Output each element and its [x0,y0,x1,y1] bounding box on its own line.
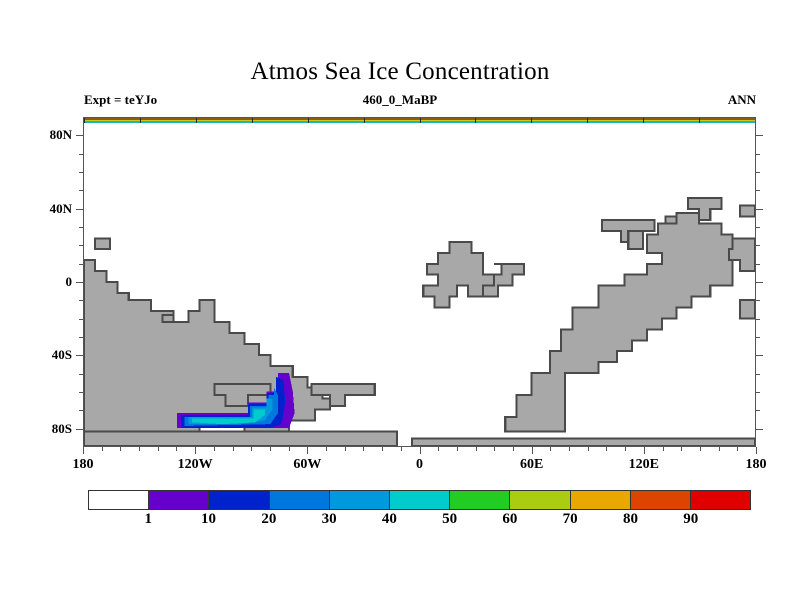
colorbar-strip [88,490,751,510]
x-axis-label: 120W [178,457,213,473]
colorbar-cell [330,491,390,509]
lon-tick-bottom [625,447,626,451]
lat-tick-left [79,190,83,191]
lon-tick-bottom [756,447,757,454]
colorbar-cell [390,491,450,509]
landmass [666,216,677,223]
lat-tick-left [76,209,83,210]
lat-tick-left [79,245,83,246]
lat-tick-right [756,282,763,283]
top-strip-tick [364,118,365,123]
lat-tick-right [756,337,760,338]
lon-tick-bottom [345,447,346,451]
lon-tick-bottom [681,447,682,451]
x-axis-label: 0 [416,457,423,473]
period-label: ANN [728,92,756,108]
lat-tick-right [756,300,760,301]
colorbar-tick-label: 40 [382,511,397,528]
frame-top-color-strip [84,118,755,123]
lat-tick-left [79,154,83,155]
lon-tick-bottom [251,447,252,451]
landmass [628,231,643,249]
top-strip-tick [755,118,756,123]
lon-tick-bottom [588,447,589,451]
top-strip-tick [587,118,588,123]
lat-tick-right [756,245,760,246]
lat-tick-left [79,172,83,173]
lon-tick-bottom [289,447,290,451]
lat-tick-right [756,355,763,356]
lat-tick-left [76,429,83,430]
top-strip-tick [475,118,476,123]
lon-tick-bottom [700,447,701,451]
lon-tick-bottom [438,447,439,451]
y-axis-label: 0 [66,274,73,290]
colorbar-cell [149,491,209,509]
x-axis-label: 180 [746,457,767,473]
lat-tick-right [756,135,763,136]
y-axis-label: 40S [52,347,72,363]
lon-tick-bottom [326,447,327,451]
lat-tick-right [756,374,760,375]
lon-tick-bottom [139,447,140,451]
top-strip-tick [699,118,700,123]
top-strip-tick [643,118,644,123]
lat-tick-right [756,264,760,265]
lat-tick-left [79,410,83,411]
colorbar-cell [691,491,750,509]
figure-root: Atmos Sea Ice Concentration 460_0_MaBP E… [0,0,800,600]
lat-tick-left [79,227,83,228]
lat-tick-left [79,319,83,320]
lat-tick-left [79,264,83,265]
lat-tick-right [756,429,763,430]
colorbar-tick-label: 60 [502,511,517,528]
lat-tick-right [756,190,760,191]
lon-tick-bottom [214,447,215,451]
plot-frame [83,117,756,447]
lon-tick-bottom [195,447,196,454]
lat-tick-right [756,319,760,320]
top-strip-tick [420,118,421,123]
colorbar-tick-label: 90 [683,511,698,528]
top-strip-tick [140,118,141,123]
lon-tick-bottom [420,447,421,454]
top-strip-tick [84,118,85,123]
landmass [740,205,755,216]
landmass [505,213,732,432]
lon-tick-bottom [569,447,570,451]
top-strip-tick [196,118,197,123]
lon-tick-bottom [176,447,177,451]
lon-tick-bottom [457,447,458,451]
antarctic-coast [84,431,397,446]
lat-tick-left [76,355,83,356]
lat-tick-right [756,392,760,393]
lat-tick-right [756,227,760,228]
map-plot: 80N40N040S80S180120W60W060E120E180 [83,117,756,447]
lon-tick-bottom [102,447,103,451]
landmass [95,238,110,249]
x-axis-label: 60E [520,457,543,473]
x-axis-label: 60W [293,457,321,473]
colorbar-tick-label: 80 [623,511,638,528]
colorbar-cell [510,491,570,509]
colorbar-tick-label: 1 [145,511,153,528]
lon-tick-bottom [120,447,121,451]
landmass [162,315,173,322]
land-layer [84,198,755,446]
colorbar-tick-label: 20 [261,511,276,528]
landmass [423,242,494,308]
colorbar-tick-label: 70 [563,511,578,528]
lon-tick-bottom [307,447,308,454]
lat-tick-right [756,154,760,155]
lon-tick-bottom [719,447,720,451]
lon-tick-bottom [606,447,607,451]
x-axis-label: 180 [73,457,94,473]
lat-tick-right [756,172,760,173]
top-strip-tick [308,118,309,123]
lon-tick-bottom [737,447,738,451]
colorbar-cell [270,491,330,509]
lon-tick-bottom [233,447,234,451]
lon-tick-bottom [663,447,664,451]
page-title: Atmos Sea Ice Concentration [0,58,800,86]
lon-tick-bottom [158,447,159,451]
lon-tick-bottom [382,447,383,451]
lat-tick-left [76,282,83,283]
lon-tick-bottom [513,447,514,451]
top-strip-tick [531,118,532,123]
y-axis-label: 80N [50,127,72,143]
lat-tick-right [756,209,763,210]
lon-tick-bottom [476,447,477,451]
antarctic-coast [412,439,755,446]
lon-tick-bottom [494,447,495,451]
lat-tick-left [79,300,83,301]
lon-tick-bottom [550,447,551,451]
y-axis-label: 80S [52,421,72,437]
colorbar-cell [209,491,269,509]
colorbar-cell [631,491,691,509]
y-axis-label: 40N [50,201,72,217]
lat-tick-left [79,337,83,338]
lon-tick-bottom [644,447,645,454]
lat-tick-left [79,392,83,393]
experiment-label: Expt = teYJo [84,92,157,108]
colorbar-cell [571,491,631,509]
colorbar-tick-label: 10 [201,511,216,528]
landmass [740,300,755,318]
map-canvas [84,118,755,446]
colorbar-tick-label: 50 [442,511,457,528]
x-axis-label: 120E [629,457,659,473]
top-strip-tick [252,118,253,123]
lon-tick-bottom [270,447,271,451]
colorbar-cell [89,491,149,509]
lon-tick-bottom [532,447,533,454]
colorbar: 1102030405060708090 [88,490,751,510]
lon-tick-bottom [363,447,364,451]
lon-tick-bottom [83,447,84,454]
colorbar-tick-label: 30 [322,511,337,528]
lon-tick-bottom [401,447,402,451]
colorbar-cell [450,491,510,509]
lat-tick-right [756,410,760,411]
lat-tick-left [76,135,83,136]
lat-tick-left [79,374,83,375]
